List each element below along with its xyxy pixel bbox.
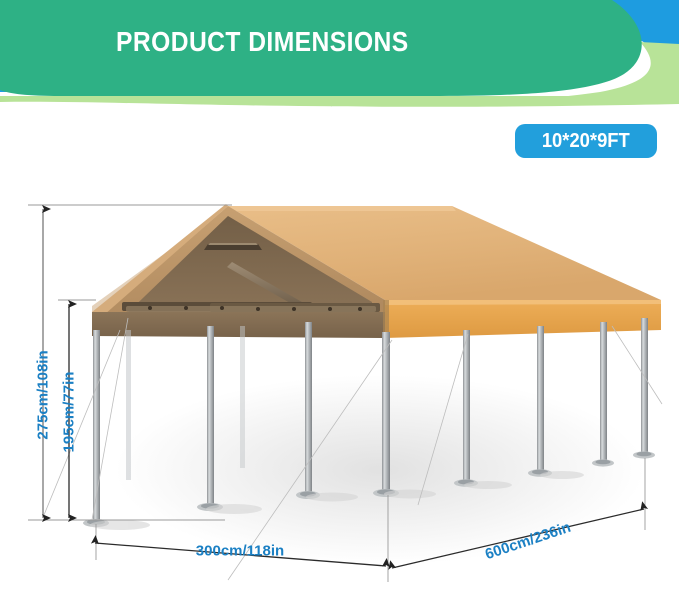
dimension-annotations	[0, 0, 679, 591]
leader-lines	[44, 318, 662, 580]
product-dimensions-infographic: PRODUCT DIMENSIONS 10*20*9FT	[0, 0, 679, 591]
dimension-label-width: 300cm/118in	[196, 544, 284, 559]
dimension-label-height-total: 275cm/108in	[36, 350, 51, 439]
dimension-label-height-leg: 195cm/77in	[62, 372, 77, 453]
